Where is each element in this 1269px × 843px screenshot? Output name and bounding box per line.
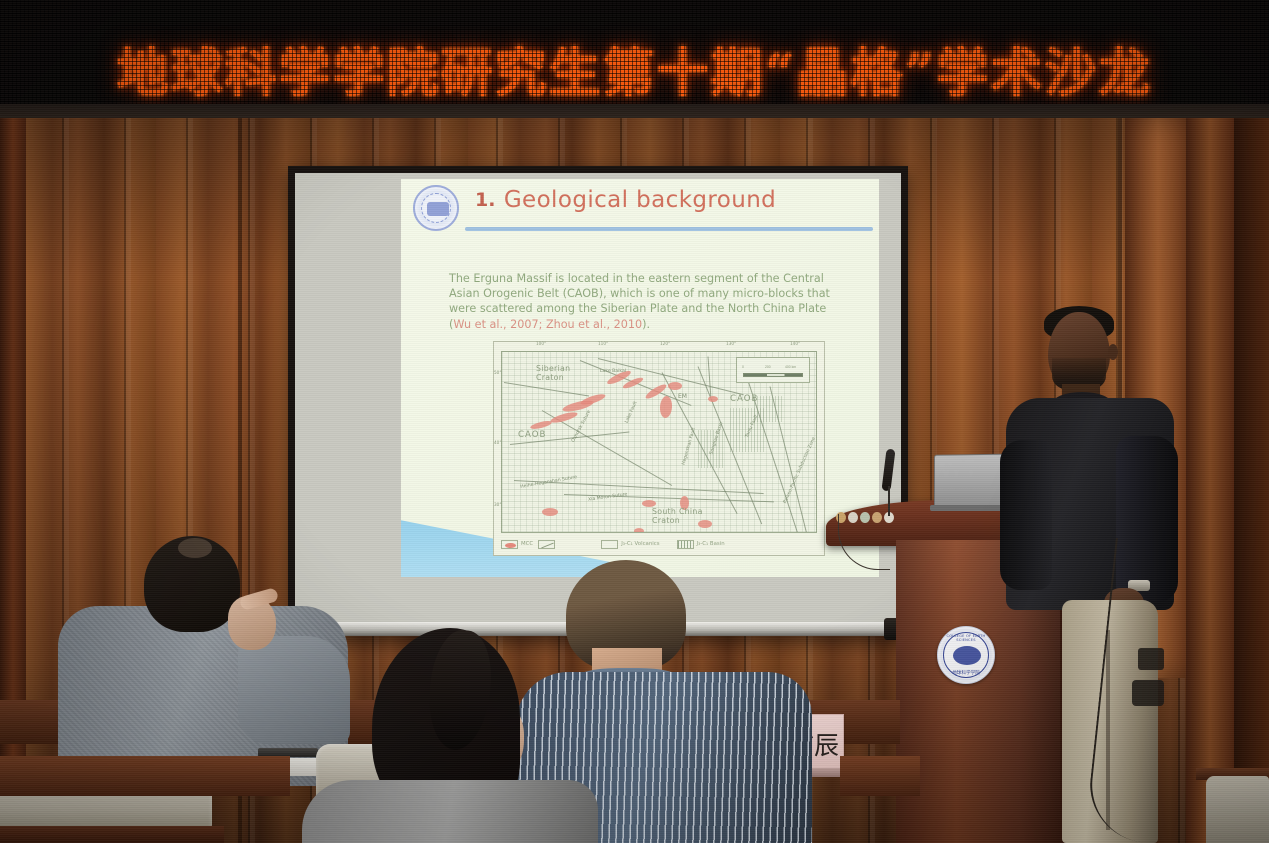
legend-label-basin: J₃-C₁ Basin <box>697 541 725 547</box>
slide-title: Geological background <box>401 187 879 213</box>
map-craton-label: South China Craton <box>652 507 703 525</box>
emblem-top-text: COLLEGE OF EARTH SCIENCES <box>938 634 994 642</box>
seat-base <box>0 826 224 843</box>
geological-map-figure: 100° 110° 120° 130° 140° 50° 40° 30° <box>493 341 825 556</box>
map-suture-label: Hegenshan Fault <box>682 427 697 465</box>
audience-member-ponytail <box>302 780 598 843</box>
scale-tick-zero: 0 <box>742 365 744 369</box>
microphone-stem <box>888 486 890 516</box>
map-mcc-blob <box>708 396 718 402</box>
led-banner: 地球科学学院研究生第十期“晶格”学术沙龙 <box>0 0 1269 118</box>
map-suture-label: Palaeo-Pacific Subduction Zone <box>783 437 817 505</box>
legend-item-arrow <box>538 540 558 549</box>
emblem-bottom-text: 地球科学学院 <box>938 670 994 676</box>
emblem-globe <box>953 646 981 665</box>
map-scale-bar: 0 200 400 km <box>736 357 810 383</box>
presenter-ear <box>1108 344 1118 360</box>
lecture-hall-photo: 地球科学学院研究生第十期“晶格”学术沙龙 1. Geological backg… <box>0 0 1269 843</box>
scale-bar-graphic <box>743 373 803 377</box>
map-craton-label: Siberian Craton <box>536 364 570 382</box>
slide-body-part2: ). <box>642 318 650 331</box>
map-mcc-blob <box>668 382 682 390</box>
wall-column-right-b <box>1234 118 1269 843</box>
map-lon-tick: 140° <box>790 341 800 346</box>
legend-item-basin: J₃-C₁ Basin <box>677 540 725 549</box>
scale-tick-mid: 200 <box>765 365 771 369</box>
legend-swatch-mcc <box>501 540 518 549</box>
map-lon-tick: 120° <box>660 341 670 346</box>
audience-desk-front <box>0 756 290 796</box>
map-mcc-blob <box>542 508 558 516</box>
map-caob-label: CAOB <box>518 430 546 440</box>
right-auditorium-seat[interactable] <box>1206 776 1269 843</box>
legend-item-mcc: MCC <box>501 540 533 549</box>
map-mcc-blob <box>634 528 644 533</box>
map-caob-label: CAOB <box>730 394 758 404</box>
legend-label-mcc: MCC <box>521 541 533 547</box>
map-mcc-blob <box>642 500 656 507</box>
map-lon-tick: 130° <box>726 341 736 346</box>
map-mcc-blob <box>659 396 673 419</box>
led-banner-text: 地球科学学院研究生第十期“晶格”学术沙龙 <box>0 31 1269 106</box>
map-plot-area: Siberian Craton South China Craton CAOB … <box>501 351 817 533</box>
map-mcc-blob <box>530 419 553 430</box>
legend-swatch-arrow <box>538 540 555 549</box>
slide-title-rule <box>465 227 873 231</box>
presenter-left-arm <box>1000 440 1052 590</box>
college-emblem-icon: COLLEGE OF EARTH SCIENCES 地球科学学院 <box>937 626 995 684</box>
map-lon-tick: 100° <box>536 341 546 346</box>
legend-swatch-volcanics <box>601 540 618 549</box>
map-legend: MCC J₃-C₁ Volcanics J₃-C₁ Basin <box>501 535 817 553</box>
legend-label-volcanics: J₃-C₁ Volcanics <box>621 541 659 547</box>
audience-1-arm <box>238 636 350 744</box>
map-fault-line <box>504 382 589 396</box>
audience-desk-front-right <box>840 756 920 796</box>
powerpoint-slide: 1. Geological background The Erguna Mass… <box>401 179 879 577</box>
legend-item-volcanics: J₃-C₁ Volcanics <box>601 540 659 549</box>
map-lon-tick: 110° <box>598 341 608 346</box>
slide-body-text: The Erguna Massif is located in the east… <box>449 271 847 332</box>
map-place-label: Lake Baikal <box>600 369 626 374</box>
map-place-label: EM <box>678 393 687 400</box>
map-suture-label: Lake Fault <box>625 401 639 424</box>
scale-tick-end: 400 km <box>785 365 796 369</box>
screen-surface: 1. Geological background The Erguna Mass… <box>295 173 901 629</box>
audience-1-scalp <box>178 538 212 558</box>
legend-swatch-basin <box>677 540 694 549</box>
slide-citation: Wu et al., 2007; Zhou et al., 2010 <box>453 318 642 331</box>
map-suture-label: Xia Moron Suture <box>588 492 628 502</box>
